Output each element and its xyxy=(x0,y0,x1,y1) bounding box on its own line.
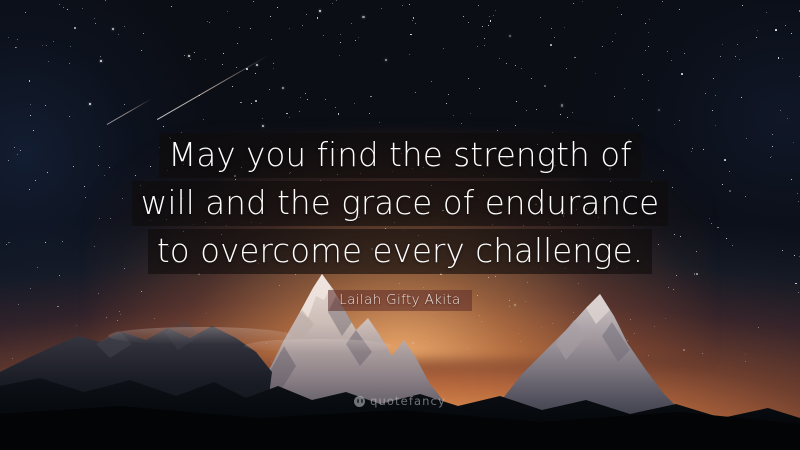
quote-image-canvas: May you find the strength of will and th… xyxy=(0,0,800,450)
quote-author-block: Lailah Gifty Akita xyxy=(0,289,800,311)
quote-line-1: May you find the strength of xyxy=(159,133,640,178)
watermark-brand: quotefancy xyxy=(370,394,446,408)
quote-author: Lailah Gifty Akita xyxy=(328,290,471,311)
quotefancy-logo-icon xyxy=(354,396,365,407)
quote-text-block: May you find the strength of will and th… xyxy=(0,133,800,274)
quote-line-3: to overcome every challenge. xyxy=(148,229,652,274)
quote-line-2: will and the grace of endurance xyxy=(132,181,668,226)
watermark: quotefancy xyxy=(0,394,800,408)
